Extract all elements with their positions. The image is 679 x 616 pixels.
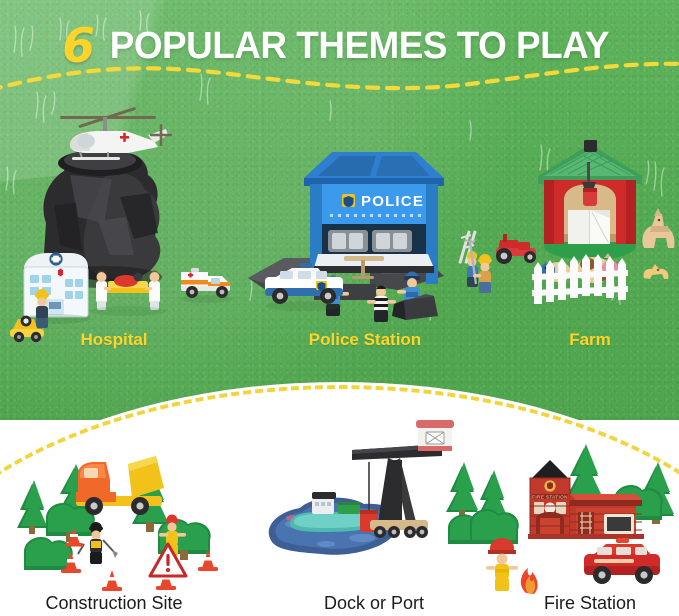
hospital-building [22,252,90,324]
label-dock-or-port: Dock or Port [284,593,464,614]
red-barn [538,140,642,244]
poster-canvas: 6 POPULAR THEMES TO PLAY [0,0,679,616]
animal-pen [532,253,628,304]
label-construction-site: Construction Site [24,593,204,614]
traffic-cone [102,570,122,591]
label-fire-station: Fire Station [500,593,679,614]
label-farm: Farm [510,330,670,350]
bush-tree [470,509,519,544]
firefighter-figure [486,538,518,591]
fire-truck-suv [584,538,660,584]
label-hospital: Hospital [34,330,194,350]
stretcher-group [90,271,166,317]
police-car: POLICE [262,262,350,312]
scene-construction-site [10,440,260,590]
bush-tree [24,537,73,570]
black-tent-shelter [392,294,438,320]
horse-figure [642,208,674,248]
white-picket-fence [532,254,628,304]
svg-text:POLICE: POLICE [361,193,424,210]
ambulance [178,262,238,306]
svg-text:FIRE STATION: FIRE STATION [532,495,568,500]
scene-fire-station: FIRE STATION [466,438,679,593]
scene-dock-or-port [266,418,486,588]
rescue-helicopter [60,107,172,160]
flame [521,568,538,594]
dashed-wave-divider [0,58,679,98]
scene-farm [528,138,678,323]
farmer-with-pitchfork [460,236,500,296]
gantry-crane [352,420,454,538]
label-police-station: Police Station [285,330,445,350]
dog-figure [644,264,669,279]
